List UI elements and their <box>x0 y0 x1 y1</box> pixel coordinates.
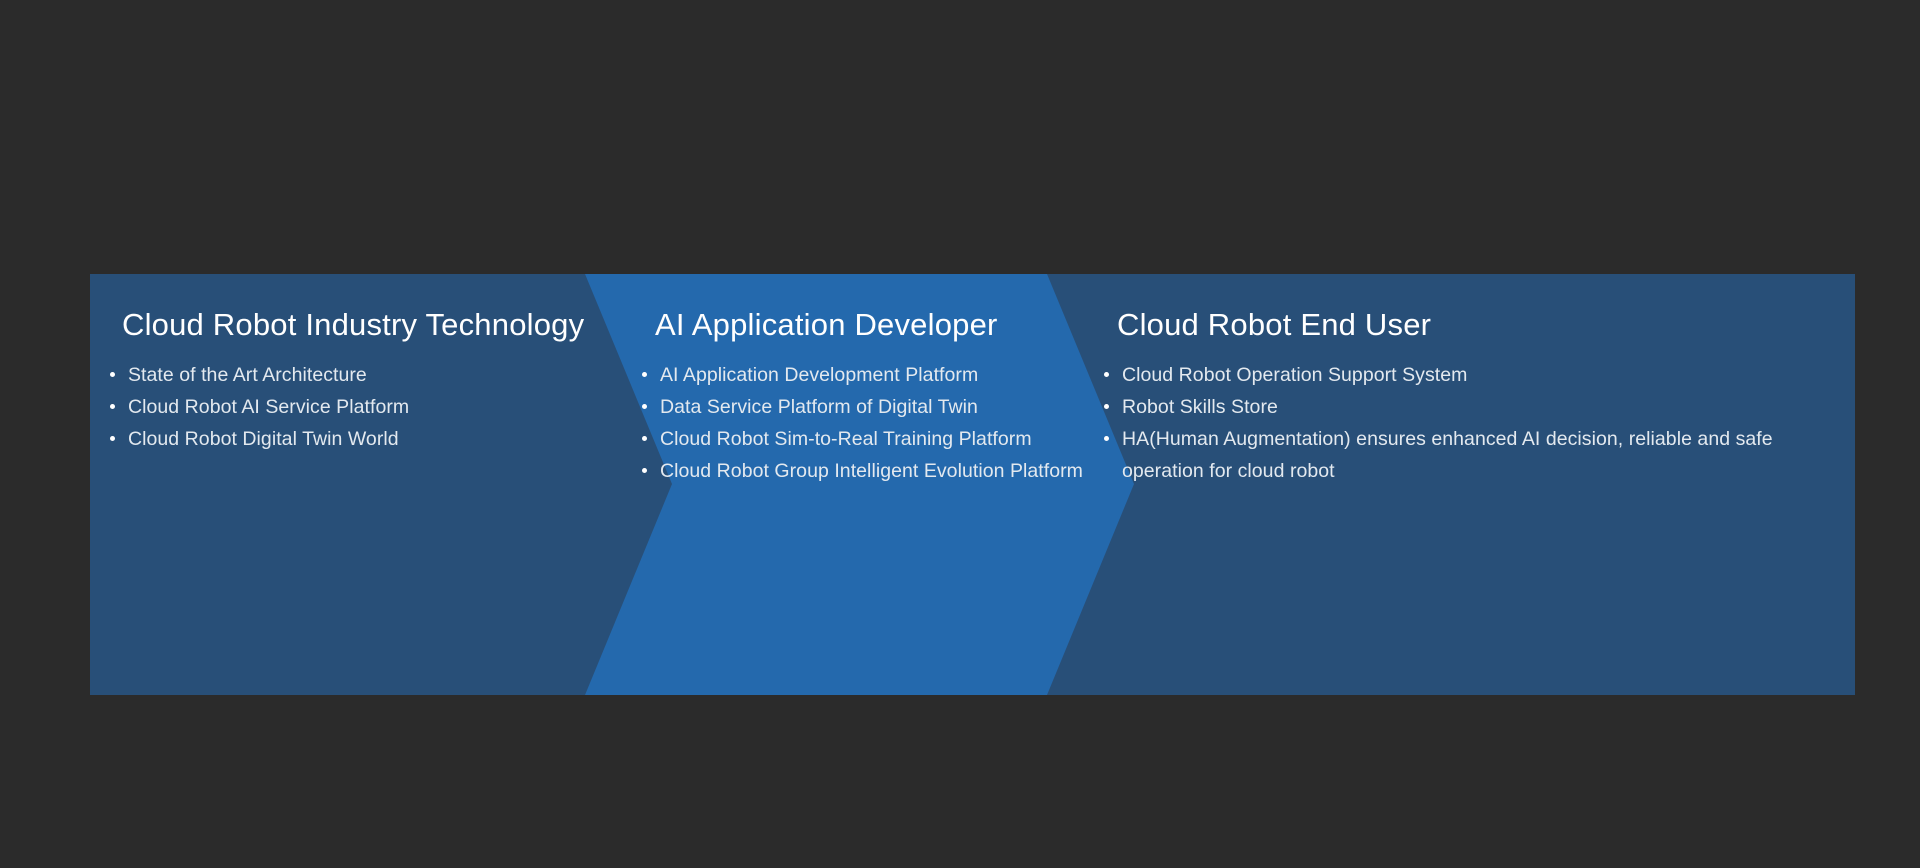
list-item: HA(Human Augmentation) ensures enhanced … <box>1098 423 1798 487</box>
column-3-bullet-list: Cloud Robot Operation Support System Rob… <box>1098 359 1798 487</box>
bullet-text: Cloud Robot Group Intelligent Evolution … <box>660 455 1156 487</box>
column-cloud-robot-industry-technology: Cloud Robot Industry Technology State of… <box>90 274 710 695</box>
column-ai-application-developer: AI Application Developer AI Application … <box>628 274 1168 695</box>
list-item: Cloud Robot Sim-to-Real Training Platfor… <box>636 423 1156 455</box>
column-2-bullet-list: AI Application Development Platform Data… <box>636 359 1156 487</box>
list-item: Cloud Robot Digital Twin World <box>104 423 664 455</box>
bullet-text: Cloud Robot Operation Support System <box>1122 359 1798 391</box>
bullet-dot-icon <box>110 404 115 409</box>
bullet-dot-icon <box>642 404 647 409</box>
bullet-dot-icon <box>110 436 115 441</box>
bullet-text: AI Application Development Platform <box>660 359 1156 391</box>
column-1-title: Cloud Robot Industry Technology <box>122 306 584 343</box>
slide-canvas: Cloud Robot Industry Technology State of… <box>0 0 1920 868</box>
list-item: AI Application Development Platform <box>636 359 1156 391</box>
bullet-dot-icon <box>642 468 647 473</box>
bullet-dot-icon <box>642 372 647 377</box>
banner-columns: Cloud Robot Industry Technology State of… <box>90 274 1855 695</box>
list-item: State of the Art Architecture <box>104 359 664 391</box>
bullet-text: Data Service Platform of Digital Twin <box>660 391 1156 423</box>
list-item: Robot Skills Store <box>1098 391 1798 423</box>
bullet-text: Robot Skills Store <box>1122 391 1798 423</box>
list-item: Cloud Robot Operation Support System <box>1098 359 1798 391</box>
bullet-text: Cloud Robot Sim-to-Real Training Platfor… <box>660 423 1156 455</box>
bullet-text: HA(Human Augmentation) ensures enhanced … <box>1122 423 1798 487</box>
column-cloud-robot-end-user: Cloud Robot End User Cloud Robot Operati… <box>1090 274 1850 695</box>
bullet-dot-icon <box>110 372 115 377</box>
column-2-title: AI Application Developer <box>655 306 998 343</box>
bullet-dot-icon <box>1104 404 1109 409</box>
list-item: Cloud Robot AI Service Platform <box>104 391 664 423</box>
column-3-title: Cloud Robot End User <box>1117 306 1431 343</box>
list-item: Data Service Platform of Digital Twin <box>636 391 1156 423</box>
bullet-text: Cloud Robot AI Service Platform <box>128 391 664 423</box>
bullet-dot-icon <box>1104 372 1109 377</box>
bullet-dot-icon <box>642 436 647 441</box>
bullet-text: State of the Art Architecture <box>128 359 664 391</box>
column-1-bullet-list: State of the Art Architecture Cloud Robo… <box>104 359 664 455</box>
chevron-banner: Cloud Robot Industry Technology State of… <box>90 274 1855 695</box>
bullet-text: Cloud Robot Digital Twin World <box>128 423 664 455</box>
list-item: Cloud Robot Group Intelligent Evolution … <box>636 455 1156 487</box>
bullet-dot-icon <box>1104 436 1109 441</box>
